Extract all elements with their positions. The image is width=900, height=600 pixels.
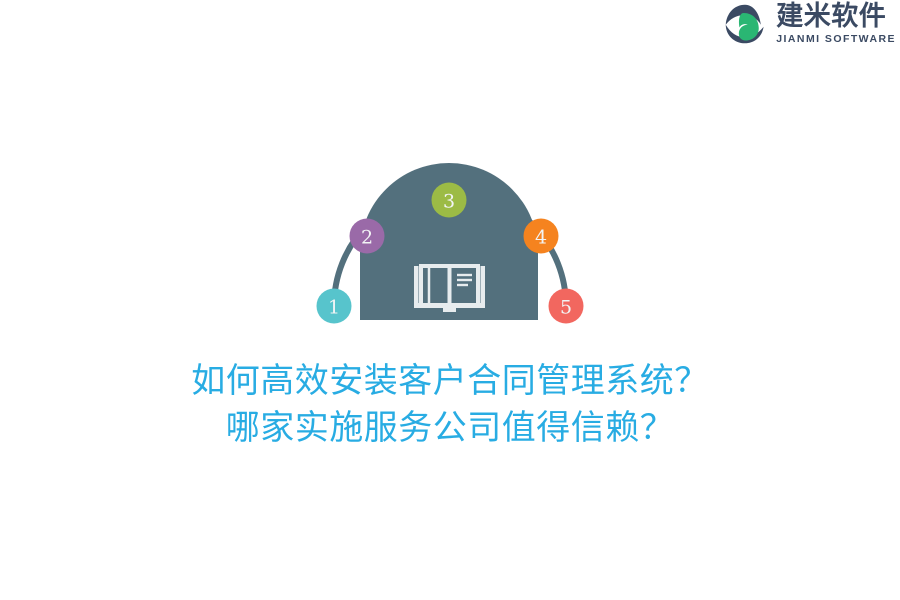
step-marker-2[interactable]: 2 — [350, 219, 385, 254]
step-number-5: 5 — [560, 297, 572, 319]
page-title-line-2: 哪家实施服务公司值得信赖？ — [0, 405, 900, 452]
brand-name-cn: 建米软件 — [776, 3, 886, 31]
step-number-2: 2 — [361, 227, 373, 249]
process-infographic: 1 2 3 4 5 — [0, 0, 900, 600]
step-marker-4[interactable]: 4 — [524, 219, 559, 254]
connector-arc — [334, 190, 566, 306]
jianmi-logo-icon — [723, 2, 767, 46]
step-marker-3[interactable]: 3 — [432, 183, 467, 218]
page-title: 如何高效安装客户合同管理系统？ 哪家实施服务公司值得信赖？ — [0, 358, 900, 452]
step-marker-1[interactable]: 1 — [317, 289, 352, 324]
brand-logo[interactable]: 建米软件 JIANMI SOFTWARE — [723, 0, 896, 48]
brand-text: 建米软件 JIANMI SOFTWARE — [776, 3, 896, 45]
step-number-3: 3 — [443, 191, 455, 213]
step-number-1: 1 — [328, 297, 340, 319]
page-title-line-1: 如何高效安装客户合同管理系统？ — [0, 358, 900, 405]
step-number-4: 4 — [535, 227, 547, 249]
step-marker-5[interactable]: 5 — [549, 289, 584, 324]
open-book-icon — [414, 266, 485, 312]
brand-name-en: JIANMI SOFTWARE — [776, 34, 896, 45]
center-dome — [360, 163, 538, 320]
